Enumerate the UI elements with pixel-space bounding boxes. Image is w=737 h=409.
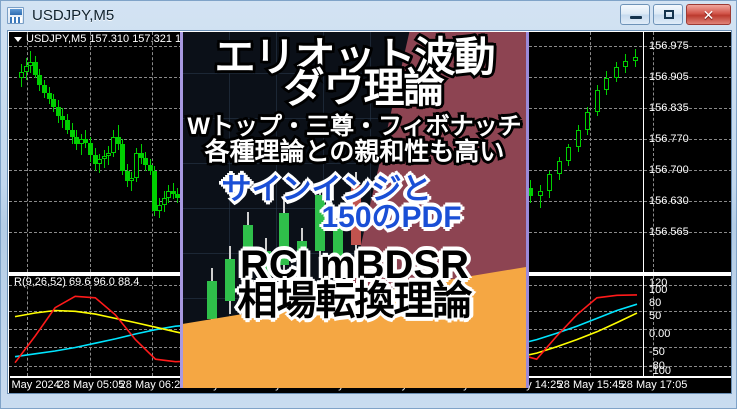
- candlestick: [623, 32, 629, 272]
- indicator-axis-line: [643, 276, 644, 376]
- price-axis-label: 156.975: [649, 41, 689, 52]
- indicator-header: R(9,26,52) 69.6 96.0 88.4: [14, 277, 139, 288]
- indicator-axis-label: -50: [649, 347, 665, 358]
- minimize-button[interactable]: [620, 4, 650, 25]
- maximize-button[interactable]: [653, 4, 683, 25]
- promo-overlay[interactable]: エリオット波動 ダウ理論 Wトップ・三尊・フィボナッチ 各種理論との親和性も高い…: [180, 32, 529, 388]
- chart-header-text: USDJPY,M5 157.310 157.321 157.: [26, 33, 196, 45]
- indicator-axis-label: 0.00: [649, 329, 670, 340]
- time-axis-label: 28 May 15:45: [558, 380, 625, 391]
- price-axis-label: 156.770: [649, 134, 689, 145]
- candlestick: [585, 32, 591, 272]
- close-button[interactable]: ✕: [686, 4, 731, 25]
- candlestick: [538, 32, 544, 272]
- chart-frame[interactable]: 156.975156.905156.835156.770156.700156.6…: [7, 30, 732, 394]
- minimize-icon: [630, 16, 642, 19]
- close-icon: ✕: [687, 8, 730, 22]
- chart-document-icon: [7, 7, 24, 24]
- price-axis-label: 156.630: [649, 196, 689, 207]
- overlay-line-4: 各種理論との親和性も高い: [205, 140, 505, 165]
- window-controls: ✕: [620, 4, 731, 25]
- overlay-line-3: Wトップ・三尊・フィボナッチ: [187, 115, 521, 139]
- window-title: USDJPY,M5: [32, 7, 114, 24]
- maximize-icon: [664, 10, 674, 19]
- indicator-axis-label: -100: [649, 366, 671, 376]
- overlay-line-8: 相場転換理論: [238, 281, 472, 321]
- candlestick: [595, 32, 601, 272]
- candlestick: [557, 32, 563, 272]
- candlestick: [614, 32, 620, 272]
- candlestick: [566, 32, 572, 272]
- chart-header: USDJPY,M5 157.310 157.321 157.: [14, 34, 196, 45]
- candlestick: [547, 32, 553, 272]
- price-axis-line: [643, 32, 644, 272]
- chevron-down-icon[interactable]: [14, 37, 22, 42]
- title-bar: USDJPY,M5 ✕: [1, 1, 736, 30]
- price-axis-label: 156.700: [649, 165, 689, 176]
- indicator-axis-label: 80: [649, 298, 661, 309]
- chart-canvas[interactable]: 156.975156.905156.835156.770156.700156.6…: [9, 32, 732, 394]
- price-axis-label: 156.905: [649, 72, 689, 83]
- candlestick: [604, 32, 610, 272]
- price-axis-label: 156.835: [649, 103, 689, 114]
- candlestick: [633, 32, 639, 272]
- time-axis-label: 28 May 05:05: [58, 380, 125, 391]
- indicator-axis-label: 100: [649, 285, 667, 296]
- overlay-line-2: ダウ理論: [284, 68, 444, 109]
- app-window: USDJPY,M5 ✕ 156.975156.905156.835156.770…: [0, 0, 737, 409]
- overlay-text-block: エリオット波動 ダウ理論 Wトップ・三尊・フィボナッチ 各種理論との親和性も高い…: [183, 32, 526, 388]
- candlestick: [576, 32, 582, 272]
- time-axis-label: 28 May 2024: [9, 380, 60, 391]
- window-bottom-edge: [1, 394, 736, 408]
- time-axis-label: 28 May 06:25: [120, 380, 187, 391]
- indicator-axis-label: 50: [649, 311, 661, 322]
- overlay-line-6: 150のPDF: [321, 203, 461, 233]
- time-axis-label: 28 May 17:05: [621, 380, 688, 391]
- price-axis-label: 156.565: [649, 227, 689, 238]
